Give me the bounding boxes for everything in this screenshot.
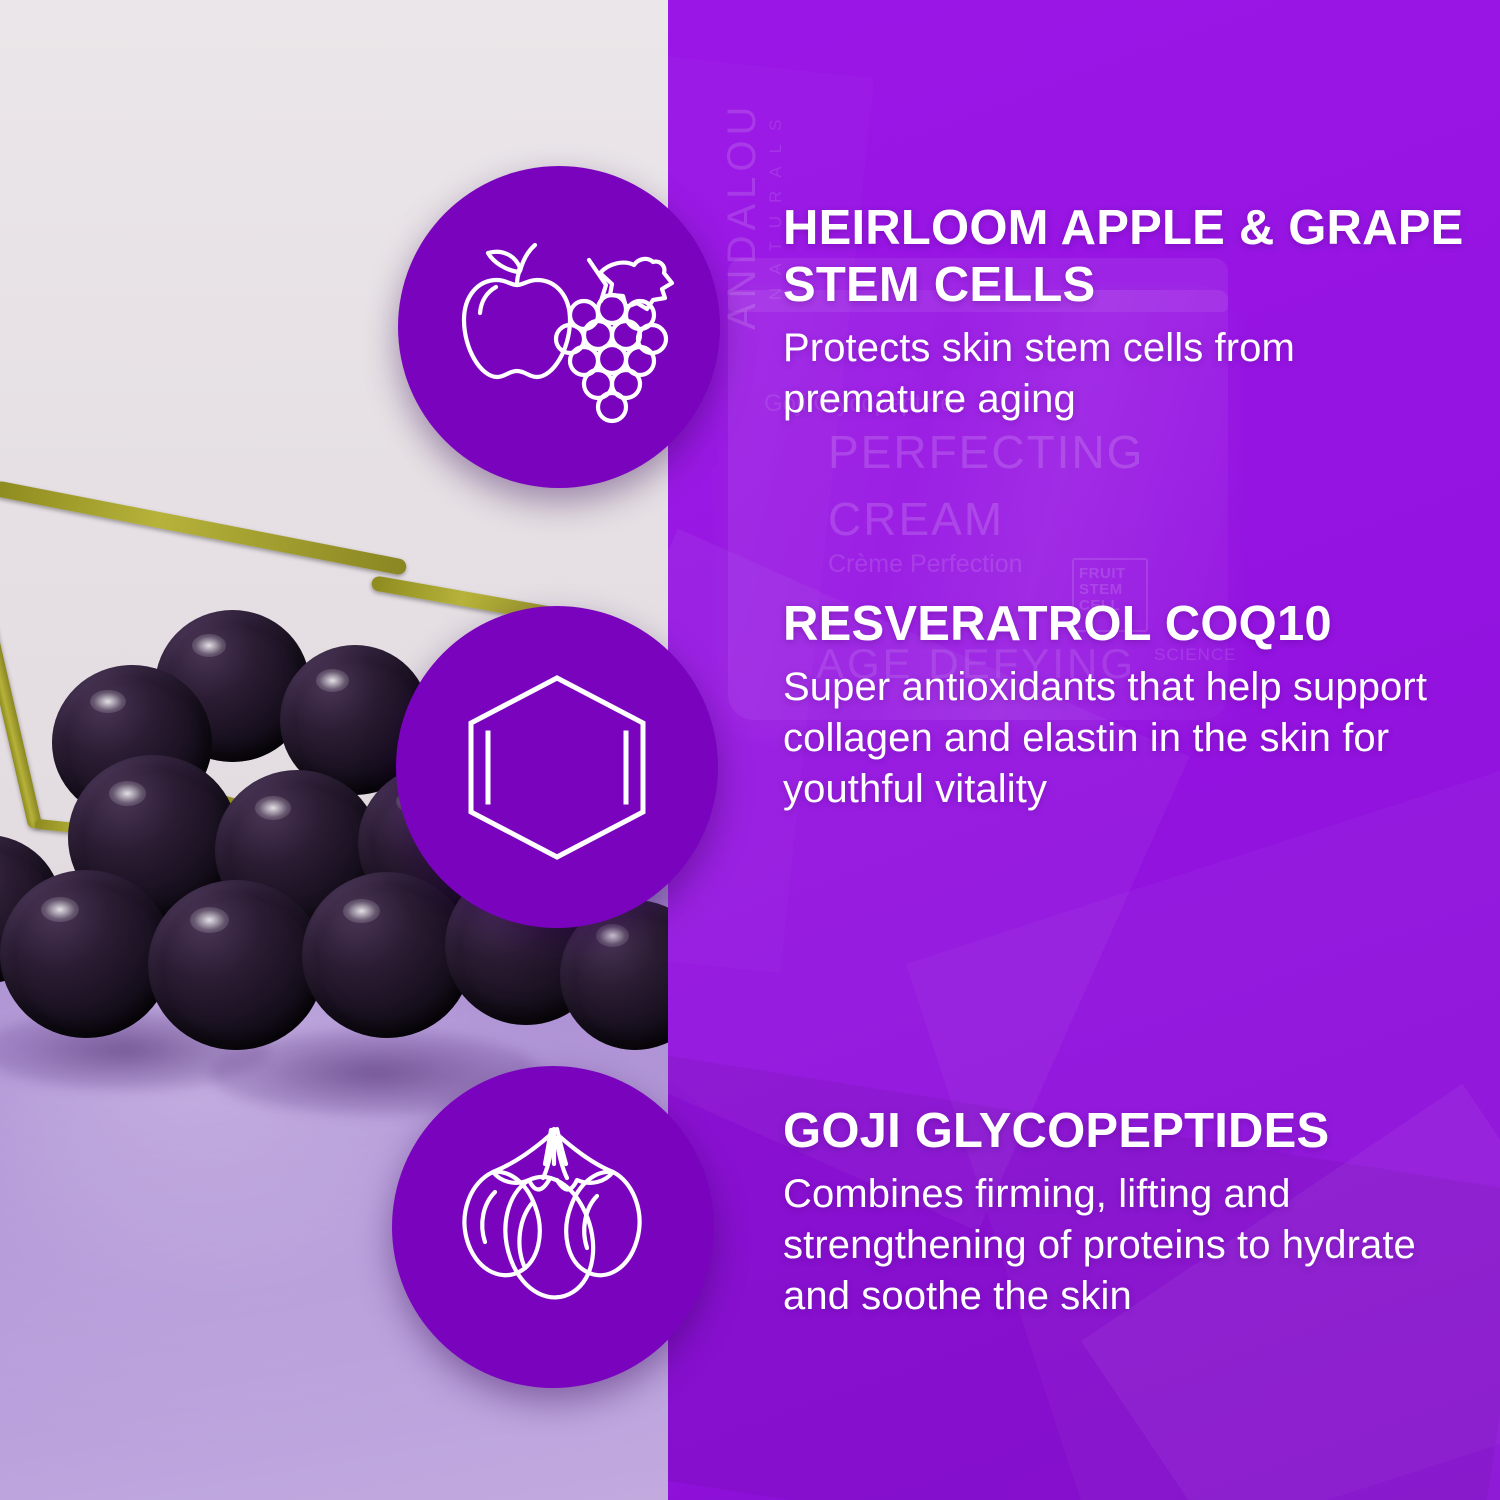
feature-title-3: GOJI GLYCOPEPTIDES (783, 1103, 1473, 1160)
apple-grape-icon (434, 227, 684, 427)
feature-title-1: HEIRLOOM APPLE & GRAPE STEM CELLS (783, 200, 1473, 314)
product-feature-infographic: ANDALOU NATURALS Goji Glycopeptides PERF… (0, 0, 1500, 1500)
hexagon-molecule-icon (457, 670, 657, 865)
feature-description-1: Protects skin stem cells from premature … (783, 323, 1473, 425)
feature-icon-circle-1 (398, 166, 720, 488)
goji-berries-icon (441, 1120, 666, 1335)
feature-description-2: Super antioxidants that help support col… (783, 662, 1473, 815)
feature-block-2: RESVERATROL COQ10 Super antioxidants tha… (783, 596, 1473, 815)
feature-block-3: GOJI GLYCOPEPTIDES Combines firming, lif… (783, 1103, 1473, 1322)
feature-block-1: HEIRLOOM APPLE & GRAPE STEM CELLS Protec… (783, 200, 1473, 425)
info-panel: ANDALOU NATURALS Goji Glycopeptides PERF… (668, 0, 1500, 1500)
feature-title-2: RESVERATROL COQ10 (783, 596, 1473, 653)
watermark-line-1: PERFECTING (828, 425, 1144, 479)
watermark-line-3: Crème Perfection (828, 550, 1023, 579)
feature-icon-circle-2 (396, 606, 718, 928)
feature-icon-circle-3 (392, 1066, 714, 1388)
feature-description-3: Combines firming, lifting and strengthen… (783, 1169, 1473, 1322)
watermark-brand: ANDALOU (720, 102, 765, 330)
watermark-line-2: CREAM (828, 492, 1004, 546)
